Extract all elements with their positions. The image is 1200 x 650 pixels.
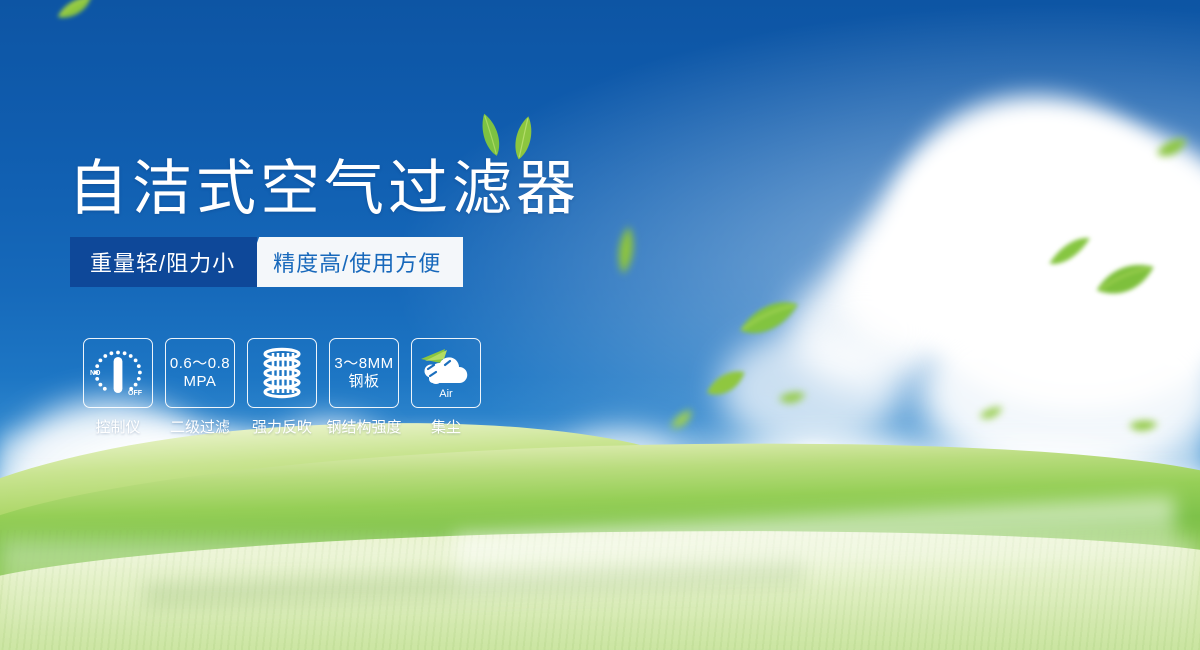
air-label: Air [439,388,453,400]
gauge-icon: NO OFF [83,338,153,408]
leaf-icon [977,405,1004,422]
feature-caption: 二级过滤 [170,416,230,437]
filter-cartridge-icon [247,338,317,408]
feature-item-dust[interactable]: Air 集尘 [408,338,484,437]
hero-banner: 自洁式空气过滤器 重量轻/阻力小 精度高/使用方便 [0,0,1200,650]
steel-plate-label: 钢板 [334,373,393,391]
pressure-text-icon: 0.6〜0.8 MPA [165,338,235,408]
grass-highlight [0,540,1200,650]
feature-caption: 钢结构强度 [326,416,401,437]
steel-plate-text-icon: 3〜8MM 钢板 [329,338,399,408]
cloud-air-icon: Air [411,338,481,408]
tagline-badge-row: 重量轻/阻力小 精度高/使用方便 [70,237,463,287]
feature-item-steel[interactable]: 3〜8MM 钢板 钢结构强度 [326,338,402,437]
tagline-badge-secondary: 精度高/使用方便 [241,237,463,287]
feature-caption: 控制仪 [95,416,140,437]
page-title: 自洁式空气过滤器 [68,140,580,227]
leaf-icon [777,389,807,408]
pressure-range-value: 0.6〜0.8 [170,355,230,373]
feature-item-pressure[interactable]: 0.6〜0.8 MPA 二级过滤 [162,338,238,437]
steel-thickness-value: 3〜8MM [334,355,393,373]
pressure-unit-value: MPA [170,373,230,391]
feature-item-controller[interactable]: NO OFF 控制仪 [80,338,156,437]
feature-caption: 强力反吹 [252,416,312,437]
svg-text:OFF: OFF [128,390,143,397]
feature-icon-row: NO OFF 控制仪 0.6〜0.8 MPA 二级过滤 [80,338,484,437]
feature-item-backblow[interactable]: 强力反吹 [244,338,320,437]
grass-field [0,420,1200,650]
leaf-icon [703,367,748,401]
tagline-badge-primary: 重量轻/阻力小 [70,237,257,287]
feature-caption: 集尘 [431,416,461,437]
svg-text:NO: NO [90,370,101,377]
